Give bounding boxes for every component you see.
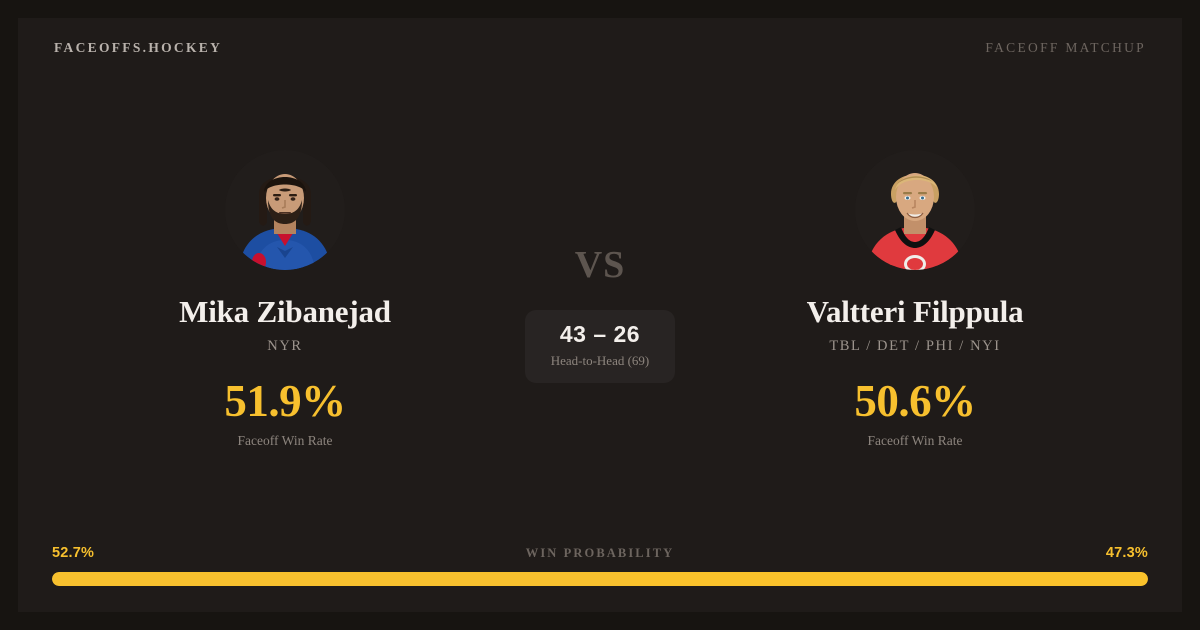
win-probability-right-value: 47.3%	[1106, 545, 1148, 561]
avatar	[855, 150, 975, 270]
player-name: Valtteri Filppula	[705, 296, 1125, 329]
player-teams: NYR	[75, 338, 495, 355]
versus-column: VS 43 – 26 Head-to-Head (69)	[495, 150, 705, 383]
head-to-head-label: Head-to-Head (69)	[551, 353, 650, 369]
win-probability-title: WIN PROBABILITY	[526, 546, 675, 561]
avatar	[225, 150, 345, 270]
win-probability-fill-right	[630, 572, 1148, 586]
head-to-head-score: 43 – 26	[551, 323, 650, 346]
site-brand: FACEOFFS.HOCKEY	[54, 40, 222, 56]
win-probability-bar[interactable]	[52, 572, 1148, 586]
win-probability-section: 52.7% WIN PROBABILITY 47.3%	[52, 545, 1148, 586]
faceoff-win-rate-value: 50.6%	[705, 379, 1125, 424]
player-name: Mika Zibanejad	[75, 296, 495, 329]
win-probability-fill-left	[52, 572, 630, 586]
versus-label: VS	[575, 246, 626, 284]
matchup-card: FACEOFFS.HOCKEY FACEOFF MATCHUP	[18, 18, 1182, 612]
head-to-head-badge[interactable]: 43 – 26 Head-to-Head (69)	[525, 310, 676, 383]
card-kicker: FACEOFF MATCHUP	[985, 40, 1146, 56]
player-card-right[interactable]: Valtteri Filppula TBL / DET / PHI / NYI …	[705, 150, 1125, 449]
faceoff-win-rate-label: Faceoff Win Rate	[705, 433, 1125, 449]
player-card-left[interactable]: Mika Zibanejad NYR 51.9% Faceoff Win Rat…	[75, 150, 495, 449]
matchup-row: Mika Zibanejad NYR 51.9% Faceoff Win Rat…	[18, 150, 1182, 449]
faceoff-win-rate-value: 51.9%	[75, 379, 495, 424]
win-probability-labels: 52.7% WIN PROBABILITY 47.3%	[52, 545, 1148, 561]
card-header: FACEOFFS.HOCKEY FACEOFF MATCHUP	[18, 18, 1182, 78]
win-probability-left-value: 52.7%	[52, 545, 94, 561]
player-teams: TBL / DET / PHI / NYI	[705, 338, 1125, 355]
faceoff-win-rate-label: Faceoff Win Rate	[75, 433, 495, 449]
